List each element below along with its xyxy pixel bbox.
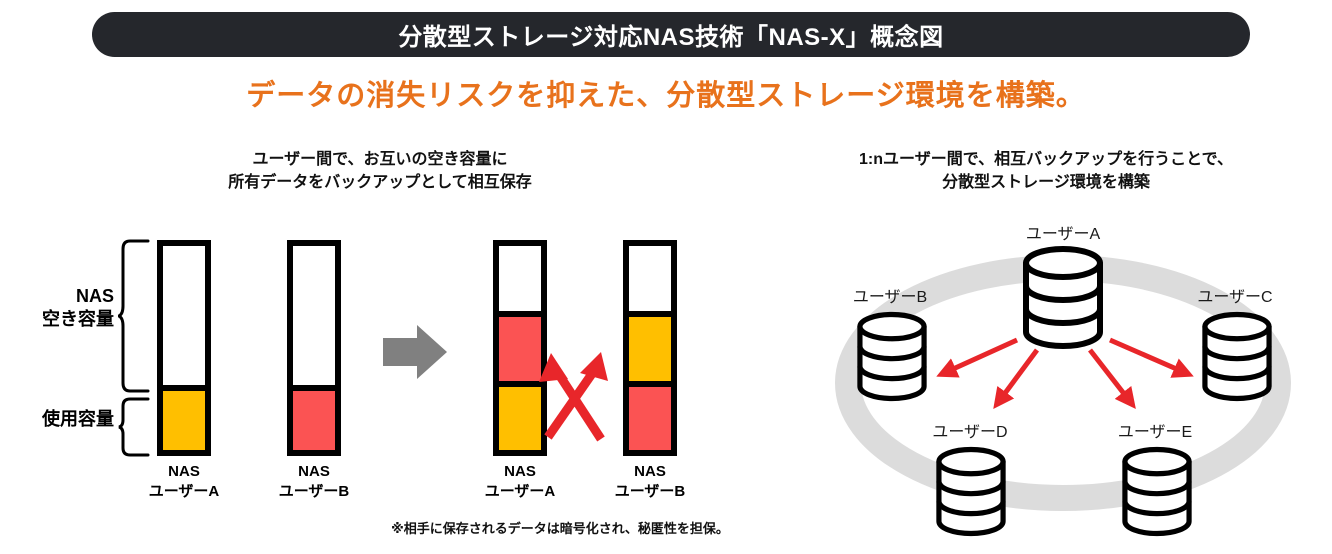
bar-label-line1: NAS: [580, 462, 720, 482]
segment-backup-of-b: [499, 311, 541, 380]
node-label-user-d: ユーザーD: [895, 418, 1045, 442]
brace-free-capacity: [118, 238, 152, 394]
bar-label-line1: NAS: [244, 462, 384, 482]
bar-label-line1: NAS: [114, 462, 254, 482]
node-label-user-a: ユーザーA: [988, 220, 1138, 244]
label-nas-free-capacity: NAS 空き容量: [4, 285, 114, 332]
bar-label-before-user-b: NAS ユーザーB: [244, 462, 384, 503]
node-label-user-c: ユーザーC: [1160, 283, 1310, 307]
arrow-a-to-e: [1090, 350, 1132, 404]
segment-free: [629, 246, 671, 311]
left-heading-line2: 所有データをバックアップとして相互保存: [40, 171, 720, 194]
bar-label-line1: NAS: [450, 462, 590, 482]
gray-right-arrow-icon: [383, 325, 447, 379]
segment-free: [163, 246, 205, 385]
database-icon-user-c: [1198, 310, 1276, 403]
free-capacity-line2: 空き容量: [4, 308, 114, 331]
database-icon-user-b: [853, 310, 931, 403]
segment-own-data: [163, 385, 205, 450]
subtitle-text: データの消失リスクを抑えた、分散型ストレージ環境を構築。: [0, 72, 1332, 114]
red-cross-arrowheads: [539, 352, 608, 382]
left-panel-heading: ユーザー間で、お互いの空き容量に 所有データをバックアップとして相互保存: [40, 148, 720, 194]
right-heading-line1: 1:nユーザー間で、相互バックアップを行うことで、: [760, 148, 1332, 171]
arrow-a-to-d: [997, 350, 1037, 404]
bar-after-user-a: [493, 240, 547, 456]
bar-before-user-a: [157, 240, 211, 456]
segment-own-data: [499, 381, 541, 450]
database-icon-user-d: [932, 445, 1010, 538]
brace-used-capacity: [118, 396, 152, 458]
diagram-canvas: 分散型ストレージ対応NAS技術「NAS-X」概念図 データの消失リスクを抑えた、…: [0, 0, 1332, 554]
arrow-a-to-c: [1110, 340, 1188, 374]
database-icon-user-a: [1018, 245, 1108, 350]
right-heading-line2: 分散型ストレージ環境を構築: [760, 171, 1332, 194]
label-used-capacity: 使用容量: [4, 408, 114, 431]
bar-label-line2: ユーザーA: [114, 482, 254, 502]
segment-backup-of-a: [629, 311, 671, 380]
title-banner: 分散型ストレージ対応NAS技術「NAS-X」概念図: [92, 12, 1250, 57]
banner-title: 分散型ストレージ対応NAS技術「NAS-X」概念図: [398, 17, 943, 52]
node-label-user-b: ユーザーB: [815, 283, 965, 307]
bar-label-line2: ユーザーB: [244, 482, 384, 502]
bar-label-before-user-a: NAS ユーザーA: [114, 462, 254, 503]
database-icon-user-e: [1118, 445, 1196, 538]
bar-label-line2: ユーザーA: [450, 482, 590, 502]
segment-own-data: [293, 385, 335, 450]
bar-after-user-b: [623, 240, 677, 456]
bar-label-after-user-a: NAS ユーザーA: [450, 462, 590, 503]
node-label-user-e: ユーザーE: [1080, 418, 1230, 442]
segment-free: [293, 246, 335, 385]
bar-label-line2: ユーザーB: [580, 482, 720, 502]
arrow-a-to-b: [942, 340, 1017, 374]
segment-own-data: [629, 381, 671, 450]
right-panel-heading: 1:nユーザー間で、相互バックアップを行うことで、 分散型ストレージ環境を構築: [760, 148, 1332, 194]
footnote-text: ※相手に保存されるデータは暗号化され、秘匿性を担保。: [300, 518, 820, 537]
red-cross-exchange-arrows-icon: [548, 368, 601, 439]
free-capacity-line1: NAS: [4, 285, 114, 308]
bar-before-user-b: [287, 240, 341, 456]
bar-label-after-user-b: NAS ユーザーB: [580, 462, 720, 503]
left-heading-line1: ユーザー間で、お互いの空き容量に: [40, 148, 720, 171]
segment-free: [499, 246, 541, 311]
